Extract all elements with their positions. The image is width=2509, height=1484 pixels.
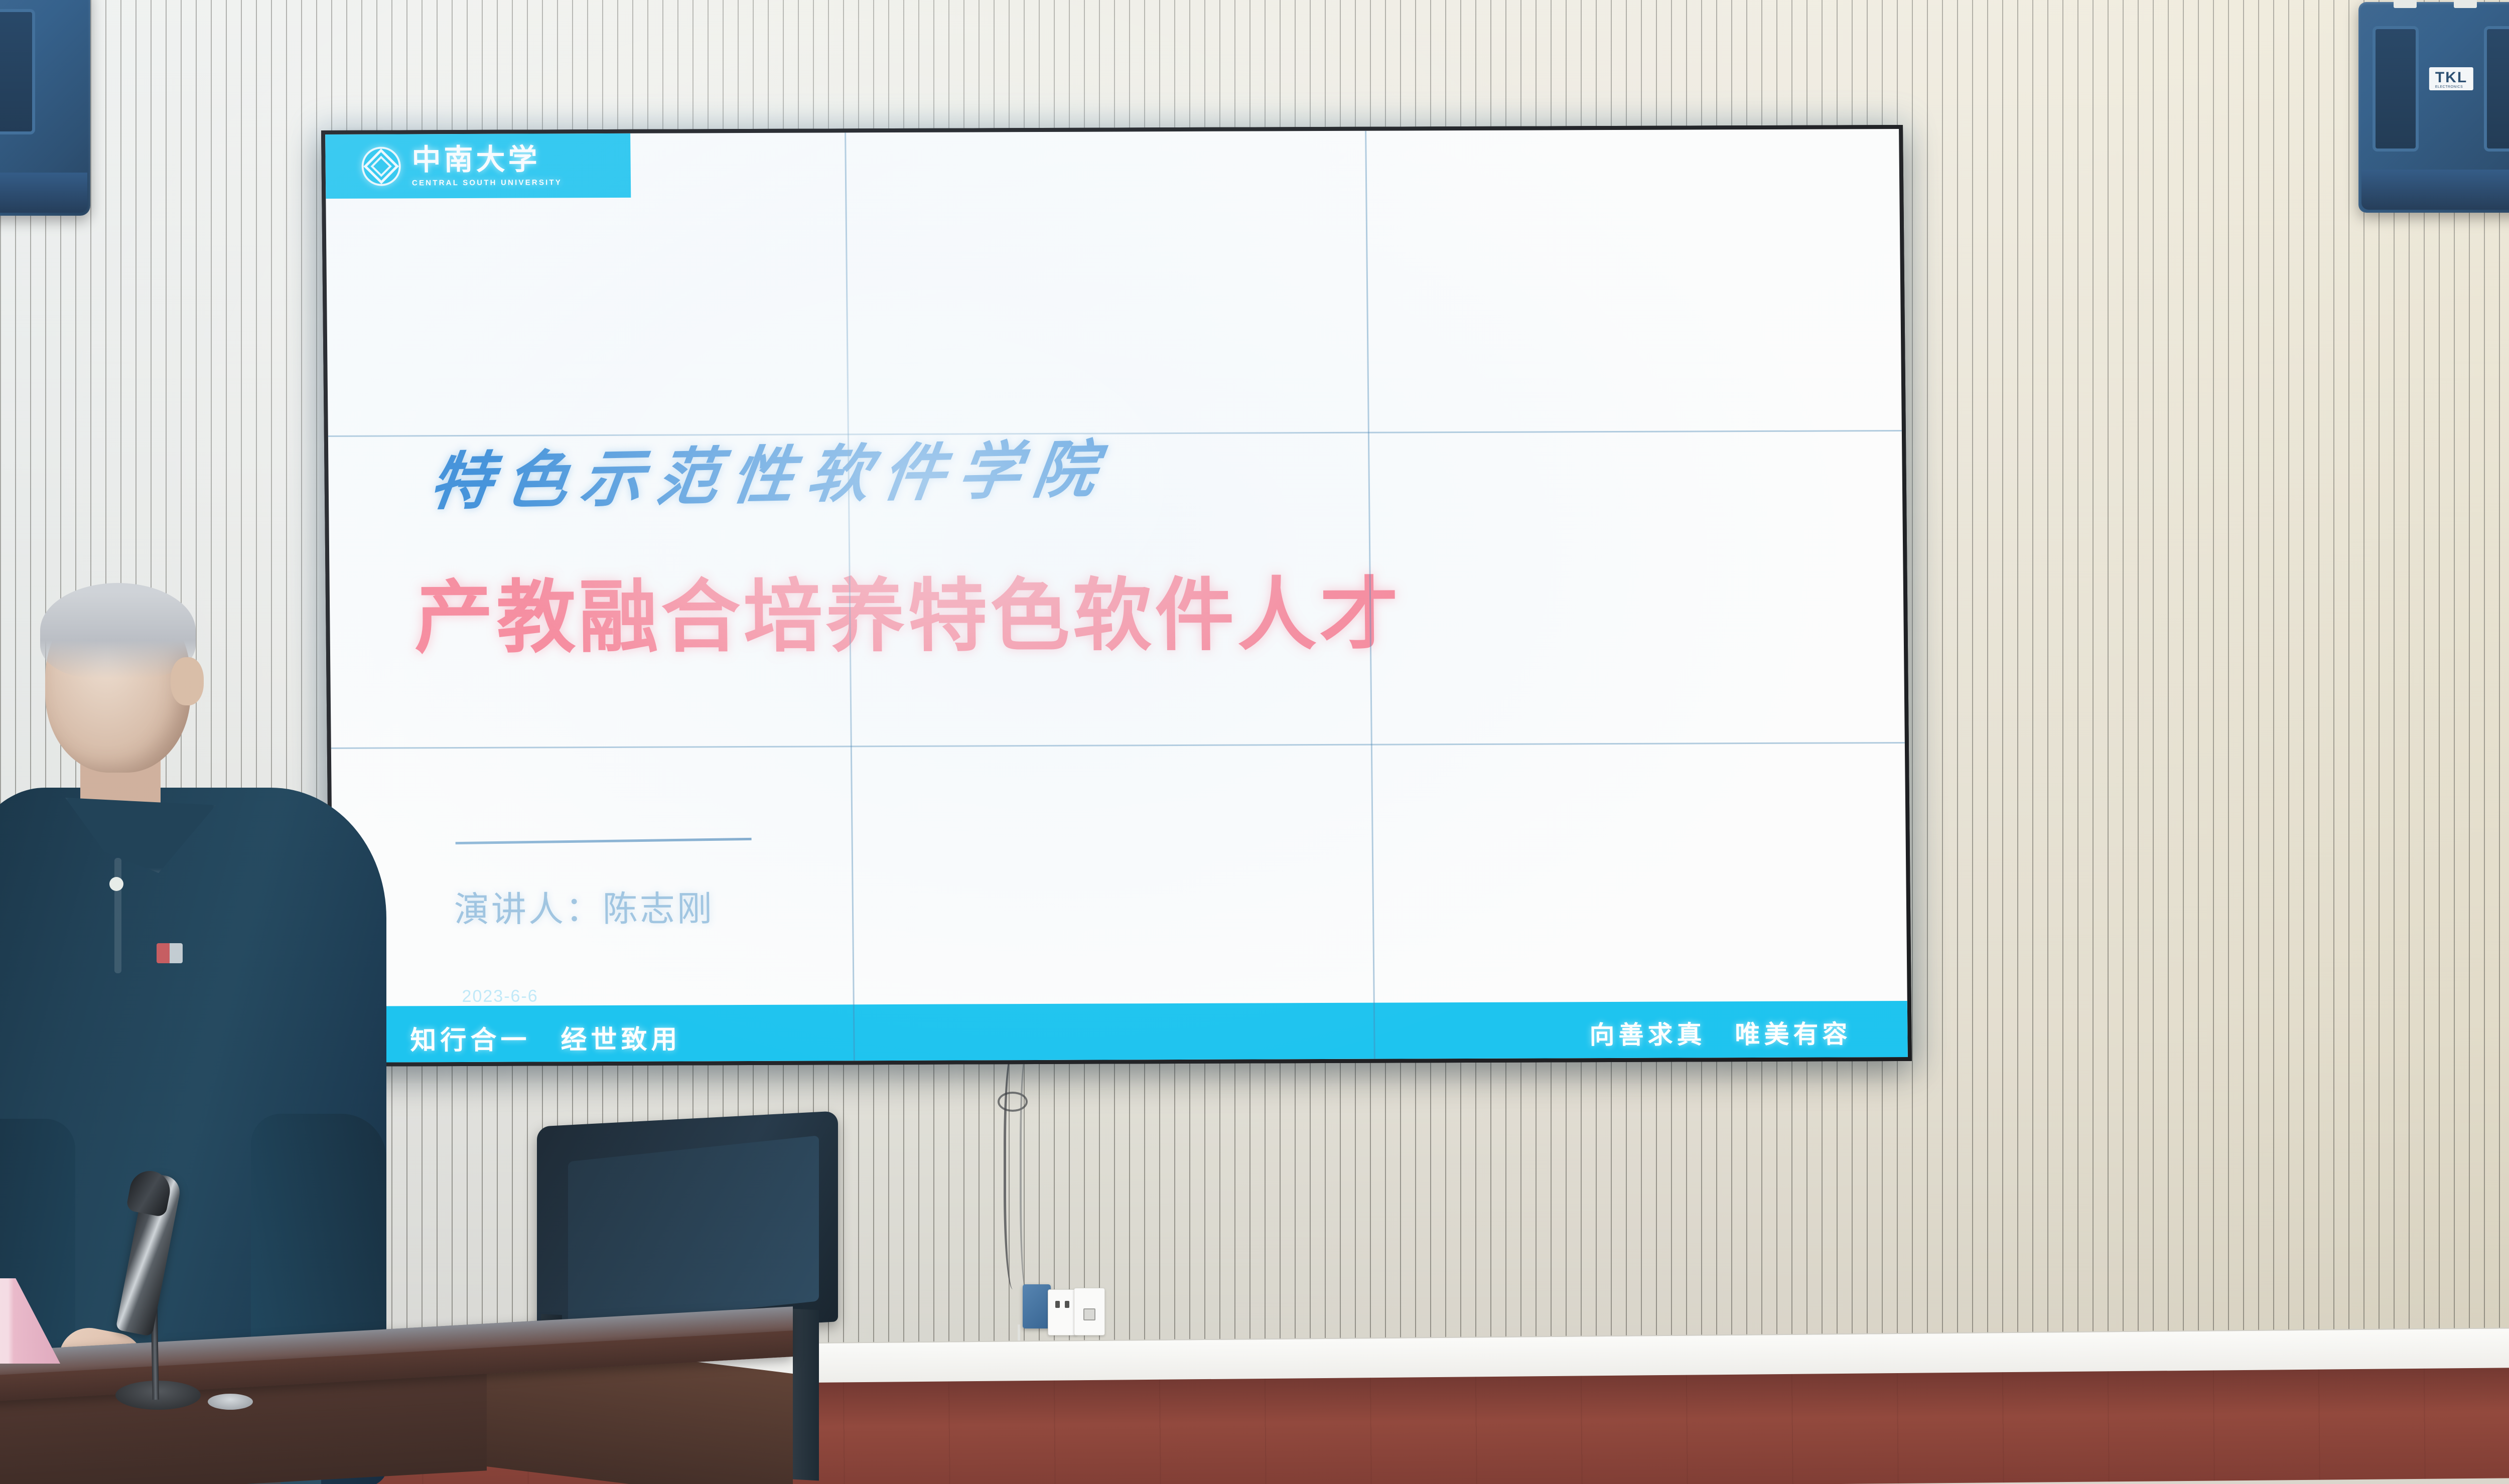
- speaker-base: [2361, 170, 2509, 210]
- presenter-shirt-logo-icon: [157, 943, 183, 963]
- data-jack-icon: [1083, 1308, 1095, 1320]
- wall-speaker-left: [0, 0, 90, 216]
- university-seal-icon: [361, 146, 401, 186]
- wall-socket-left[interactable]: [1048, 1289, 1077, 1335]
- speaker-brand-label: TKL: [2435, 69, 2467, 86]
- slide-presenter-line: 演讲人：陈志刚: [454, 880, 714, 932]
- lectern-table-group: [0, 1204, 833, 1484]
- speaker-grille-icon: [0, 9, 35, 134]
- signal-cable: [1020, 1054, 1035, 1289]
- slide-footer-motto-right: 向善求真 唯美有容: [1589, 1014, 1852, 1051]
- wall-data-jack-left[interactable]: [1074, 1288, 1105, 1335]
- speaker-bracket-left: [2394, 0, 2417, 8]
- socket-pin-icon: [1055, 1301, 1060, 1308]
- slide-main-title: 产教融合培养特色软件人才: [413, 550, 1402, 668]
- socket-pin-icon: [1065, 1301, 1069, 1308]
- wall-speaker-right: TKL ELECTRONICS: [2358, 2, 2509, 213]
- photo-scene: TKL ELECTRONICS: [0, 0, 2509, 1484]
- speaker-base: [0, 173, 87, 213]
- speaker-bracket-right: [2454, 0, 2477, 8]
- name-placard: [0, 1278, 60, 1364]
- video-wall-display[interactable]: 中南大学 CENTRAL SOUTH UNIVERSITY 特色示范性软件学院 …: [321, 125, 1912, 1067]
- panel-seam-horizontal: [331, 742, 1905, 749]
- presenter-hair: [40, 583, 196, 678]
- university-name-en: CENTRAL SOUTH UNIVERSITY: [412, 179, 562, 187]
- slide-logo-bar: 中南大学 CENTRAL SOUTH UNIVERSITY: [325, 133, 631, 199]
- power-adapter: [1023, 1284, 1051, 1328]
- university-name-block: 中南大学 CENTRAL SOUTH UNIVERSITY: [411, 145, 562, 187]
- microphone-assembly[interactable]: [95, 1174, 246, 1425]
- slide-footer-motto-left: 知行合一 经世致用: [410, 1018, 681, 1057]
- slide-subtitle-calligraphy: 特色示范性软件学院: [425, 418, 1116, 522]
- slide-footer-date: 2023-6-6: [462, 986, 538, 1006]
- display-bezel: 中南大学 CENTRAL SOUTH UNIVERSITY 特色示范性软件学院 …: [321, 125, 1912, 1067]
- speaker-brand-badge: TKL ELECTRONICS: [2429, 67, 2473, 90]
- presentation-slide: 中南大学 CENTRAL SOUTH UNIVERSITY 特色示范性软件学院 …: [325, 129, 1908, 1063]
- presenter-polo-placket: [114, 858, 121, 973]
- slide-divider-rule: [456, 838, 752, 844]
- speaker-grille-left-icon: [2373, 26, 2419, 152]
- university-name-cn: 中南大学: [411, 145, 562, 175]
- desk-washer: [208, 1394, 253, 1410]
- speaker-brand-sublabel: ELECTRONICS: [2435, 85, 2467, 89]
- presenter-polo-button: [109, 877, 123, 891]
- slide-footer-bar: 2023-6-6 知行合一 经世致用 向善求真 唯美有容: [334, 1001, 1908, 1063]
- speaker-grille-right-icon: [2484, 26, 2509, 152]
- microphone-head-icon: [126, 1167, 174, 1218]
- presenter-ear: [171, 657, 204, 705]
